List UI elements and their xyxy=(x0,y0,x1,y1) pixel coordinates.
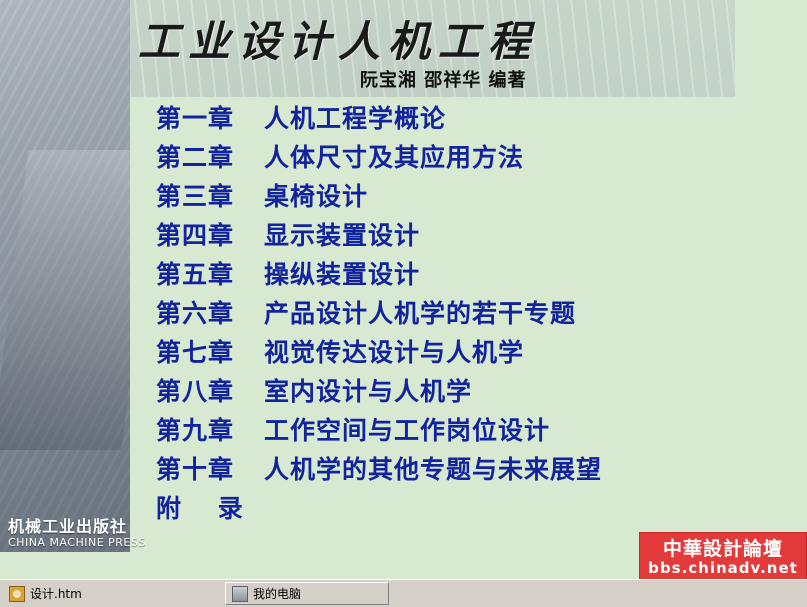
toc-chapter-title: 桌椅设计 xyxy=(264,177,368,213)
toc-chapter-number: 第五章 xyxy=(156,255,264,291)
toc-chapter-title: 人机学的其他专题与未来展望 xyxy=(264,450,602,486)
publisher-name-en: CHINA MACHINE PRESS xyxy=(8,536,146,549)
toc-appendix-label: 附 录 xyxy=(156,489,264,525)
list-item: 第九章 工作空间与工作岗位设计 xyxy=(156,411,796,450)
toc-chapter-number: 第八章 xyxy=(156,372,264,408)
powerpoint-icon xyxy=(9,586,25,602)
toc-chapter-title: 显示装置设计 xyxy=(264,216,420,252)
toc-chapter-number: 第三章 xyxy=(156,177,264,213)
watermark-url: bbs.chinadv.net xyxy=(640,559,806,577)
list-item: 附 录 xyxy=(156,489,796,528)
computer-icon xyxy=(232,586,248,602)
background-left-strip xyxy=(0,0,140,580)
toc-chapter-title: 产品设计人机学的若干专题 xyxy=(264,294,576,330)
list-item: 第十章 人机学的其他专题与未来展望 xyxy=(156,450,796,489)
toc-chapter-title: 工作空间与工作岗位设计 xyxy=(264,411,550,447)
toc-chapter-number: 第七章 xyxy=(156,333,264,369)
toc-chapter-number: 第一章 xyxy=(156,99,264,135)
table-of-contents: 第一章 人机工程学概论 第二章 人体尺寸及其应用方法 第三章 桌椅设计 第四章 … xyxy=(156,99,796,528)
toc-chapter-title: 人体尺寸及其应用方法 xyxy=(264,138,524,174)
list-item: 第四章 显示装置设计 xyxy=(156,216,796,255)
publisher-name-cn: 机械工业出版社 xyxy=(8,513,127,537)
list-item: 第八章 室内设计与人机学 xyxy=(156,372,796,411)
list-item: 第三章 桌椅设计 xyxy=(156,177,796,216)
list-item: 第二章 人体尺寸及其应用方法 xyxy=(156,138,796,177)
toc-chapter-title: 操纵装置设计 xyxy=(264,255,420,291)
page-title: 工业设计人机工程 xyxy=(138,8,698,69)
toc-chapter-number: 第十章 xyxy=(156,450,264,486)
toc-chapter-number: 第六章 xyxy=(156,294,264,330)
list-item: 第五章 操纵装置设计 xyxy=(156,255,796,294)
slide-root: 工业设计人机工程 阮宝湘 邵祥华 编著 第一章 人机工程学概论 第二章 人体尺寸… xyxy=(0,0,807,607)
forum-watermark: 中華設計論壇 bbs.chinadv.net xyxy=(639,532,807,580)
taskbar[interactable]: 设计.htm 我的电脑 xyxy=(0,579,807,607)
slide-right-top-background xyxy=(735,0,807,97)
watermark-title: 中華設計論壇 xyxy=(640,534,806,561)
taskbar-item-1[interactable]: 我的电脑 xyxy=(225,582,389,605)
toc-chapter-title: 人机工程学概论 xyxy=(264,99,446,135)
toc-chapter-number: 第九章 xyxy=(156,411,264,447)
taskbar-item-0[interactable]: 设计.htm xyxy=(3,583,135,604)
authors-line: 阮宝湘 邵祥华 编著 xyxy=(360,66,527,92)
toc-chapter-number: 第二章 xyxy=(156,138,264,174)
list-item: 第六章 产品设计人机学的若干专题 xyxy=(156,294,796,333)
toc-chapter-title: 视觉传达设计与人机学 xyxy=(264,333,524,369)
toc-chapter-title: 室内设计与人机学 xyxy=(264,372,472,408)
taskbar-item-label: 设计.htm xyxy=(30,585,82,602)
taskbar-item-label: 我的电脑 xyxy=(253,585,301,602)
toc-chapter-number: 第四章 xyxy=(156,216,264,252)
list-item: 第七章 视觉传达设计与人机学 xyxy=(156,333,796,372)
list-item: 第一章 人机工程学概论 xyxy=(156,99,796,138)
